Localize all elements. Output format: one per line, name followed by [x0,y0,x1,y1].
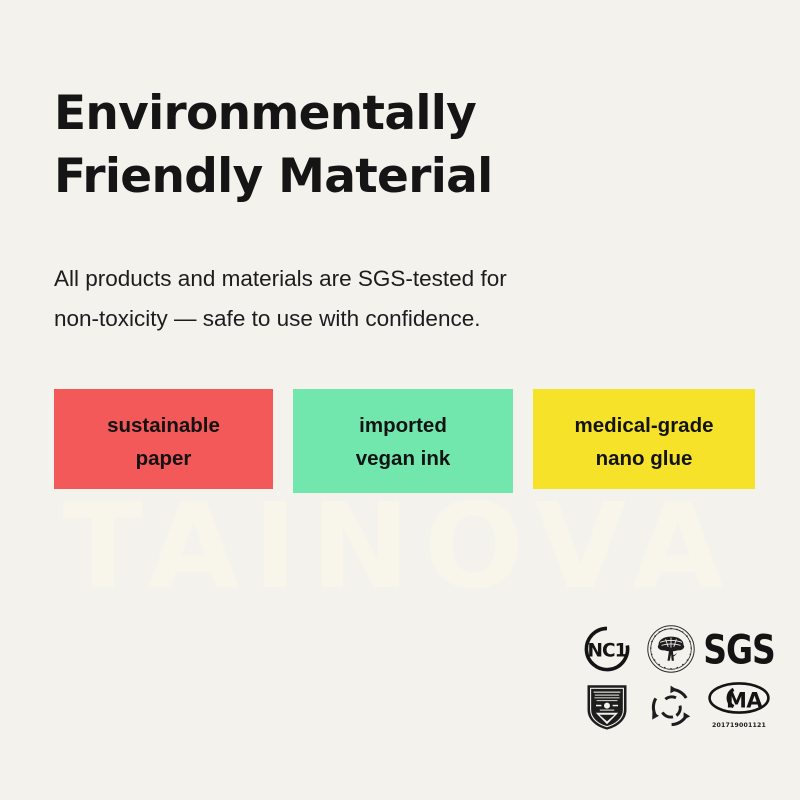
material-chip-sustainable-paper: sustainable paper [54,389,273,489]
material-chip-label-line-2: vegan ink [305,442,501,475]
svg-text:MA: MA [726,688,763,712]
material-chip-label-line-1: imported [305,409,501,442]
page-title-line-1: Environmentally [54,83,674,146]
page-subtitle: All products and materials are SGS-teste… [54,259,654,339]
material-chip-label-line-2: paper [66,442,261,475]
certification-badge-grid: NC1 [575,620,775,736]
poster-canvas: TAINOVA Environmentally Friendly Materia… [0,0,800,800]
page-title: Environmentally Friendly Material [54,83,674,208]
material-chip-label-line-1: sustainable [66,409,261,442]
sgs-logo: SGS [703,629,775,669]
page-subtitle-line-2: non-toxicity — safe to use with confiden… [54,299,654,339]
svg-text:NC1: NC1 [588,641,627,662]
page-subtitle-line-1: All products and materials are SGS-teste… [54,259,654,299]
forest-tree-seal-badge-icon [646,624,696,674]
cma-oval-logo: MA 201719001121 [708,682,770,732]
material-chip-imported-vegan-ink: imported vegan ink [293,389,513,493]
brand-watermark: TAINOVA [0,487,800,605]
shield-chevron-badge-icon [584,682,630,732]
page-title-line-2: Friendly Material [54,146,674,209]
material-chip-label-line-2: nano glue [545,442,743,475]
cma-certificate-number: 201719001121 [712,722,766,729]
nc1-circle-badge-icon: NC1 [583,625,631,673]
material-chip-label-line-1: medical-grade [545,409,743,442]
recycling-arrows-badge-icon [647,683,695,731]
material-chip-row: sustainable paper imported vegan ink med… [54,389,764,493]
material-chip-medical-grade-nano-glue: medical-grade nano glue [533,389,755,489]
